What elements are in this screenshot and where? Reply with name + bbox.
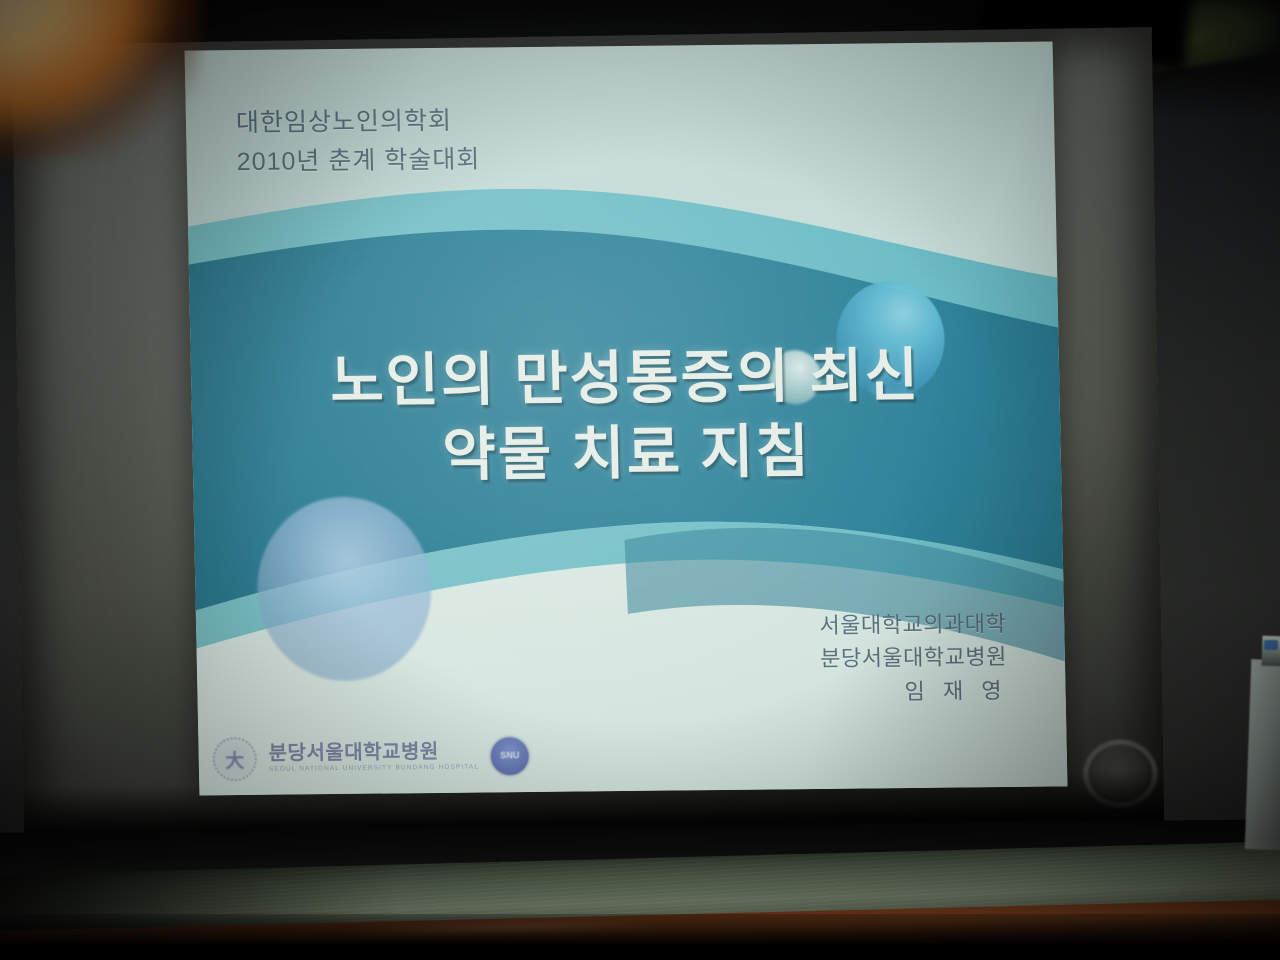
side-equipment-badge-icon [1264, 640, 1278, 650]
side-equipment-panel [1245, 659, 1280, 851]
projected-slide: 대한임상노인의학회 2010년 춘계 학술대회 노인의 만성통증의 최신 약물 … [185, 42, 1068, 796]
slide-title-block: 노인의 만성통증의 최신 약물 치료 지침 [190, 337, 1061, 494]
university-seal-icon: 大 [212, 737, 257, 781]
conference-session-name: 2010년 춘계 학술대회 [236, 142, 480, 180]
hospital-logotype: 분당서울대학교병원 SEOUL NATIONAL UNIVERSITY BUND… [268, 742, 479, 774]
photo-scene: 대한임상노인의학회 2010년 춘계 학술대회 노인의 만성통증의 최신 약물 … [0, 0, 1280, 960]
presenter-name: 임 재 영 [821, 674, 1008, 709]
slide-canvas: 대한임상노인의학회 2010년 춘계 학술대회 노인의 만성통증의 최신 약물 … [185, 42, 1068, 796]
hospital-logotype-english: SEOUL NATIONAL UNIVERSITY BUNDANG HOSPIT… [269, 765, 479, 774]
foreground-shadow [0, 914, 1280, 960]
slide-affiliation-block: 서울대학교의과대학 분당서울대학교병원 임 재 영 [819, 607, 1008, 709]
slide-title-line-1: 노인의 만성통증의 최신 [190, 337, 1059, 419]
slide-title-line-2: 약물 치료 지침 [192, 413, 1061, 495]
snu-emblem-icon: SNU [490, 737, 529, 775]
hospital-logotype-korean: 분당서울대학교병원 [268, 742, 478, 764]
conference-society-name: 대한임상노인의학회 [236, 104, 480, 142]
affiliation-college: 서울대학교의과대학 [819, 607, 1006, 642]
affiliation-hospital: 분당서울대학교병원 [820, 640, 1007, 675]
slide-footer-logos: 大 분당서울대학교병원 SEOUL NATIONAL UNIVERSITY BU… [212, 734, 529, 781]
slide-header-block: 대한임상노인의학회 2010년 춘계 학술대회 [236, 104, 481, 181]
